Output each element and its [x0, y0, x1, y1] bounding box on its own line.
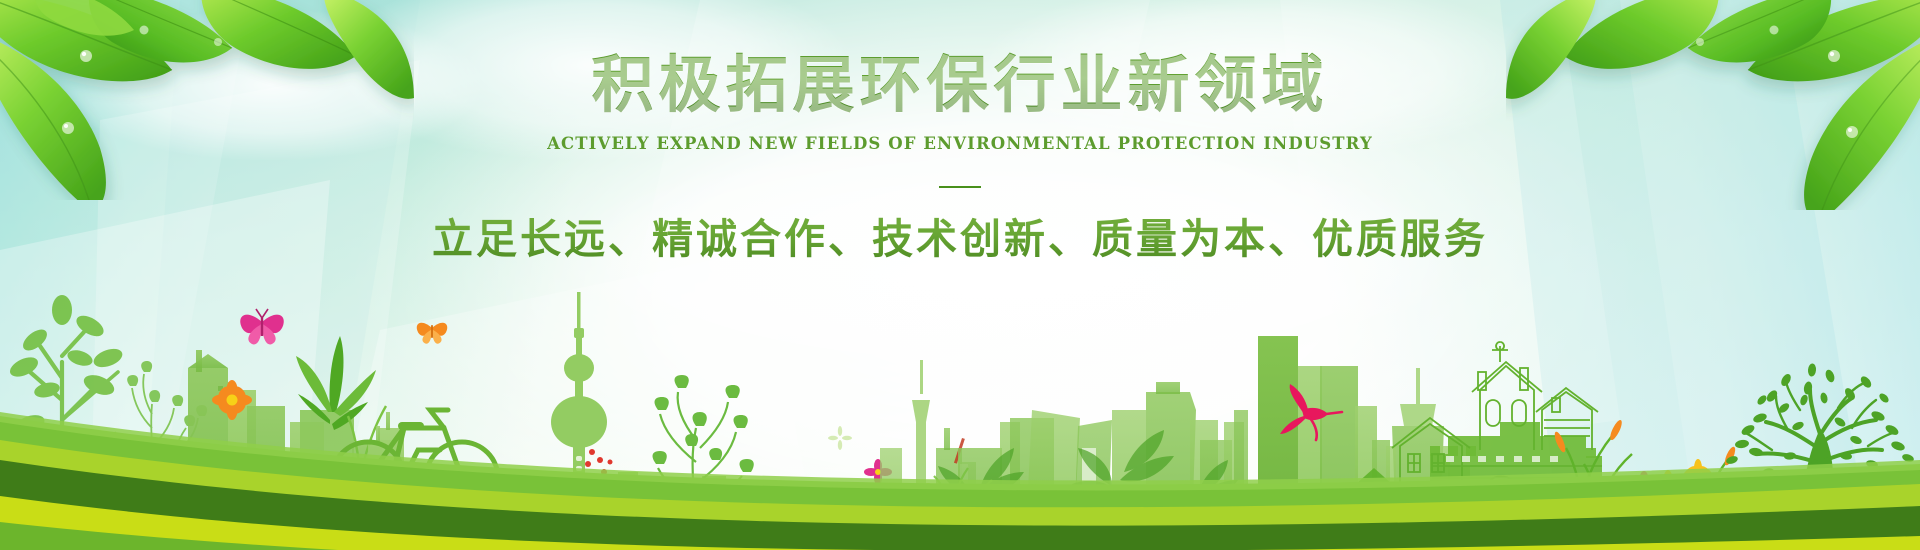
- page-title: 积极拓展环保行业新领域: [0, 52, 1920, 118]
- subtitle-english: ACTIVELY EXPAND NEW FIELDS OF ENVIRONMEN…: [0, 134, 1920, 153]
- eco-banner: 积极拓展环保行业新领域 ACTIVELY EXPAND NEW FIELDS O…: [0, 0, 1920, 550]
- green-wave-bands: [0, 360, 1920, 550]
- pink-butterfly: [240, 309, 284, 344]
- horizontal-rule-icon: [939, 186, 981, 188]
- divider-wrapper: [0, 175, 1920, 185]
- slogan-text: 立足长远、精诚合作、技术创新、质量为本、优质服务: [0, 205, 1920, 265]
- orange-butterfly-left: [417, 323, 447, 344]
- banner-text-block: 积极拓展环保行业新领域 ACTIVELY EXPAND NEW FIELDS O…: [0, 52, 1920, 265]
